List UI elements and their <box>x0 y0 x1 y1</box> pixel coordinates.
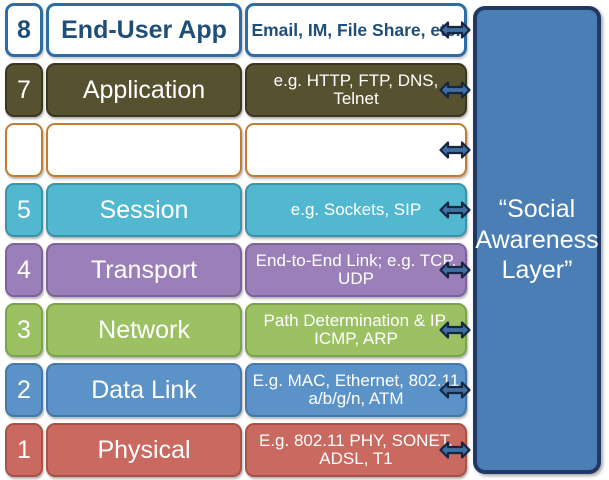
social-awareness-label: “Social Awareness Layer” <box>475 194 598 286</box>
osi-social-awareness-diagram: 8End-User AppEmail, IM, File Share, etc.… <box>0 0 609 480</box>
layer-name-1: Physical <box>46 423 242 477</box>
layer-stack: 8End-User AppEmail, IM, File Share, etc.… <box>0 0 472 480</box>
layer-row-1: 1PhysicalE.g. 802.11 PHY, SONET, ADSL, T… <box>0 420 472 480</box>
layer-description-6: Data Representation & Encryption <box>245 123 467 177</box>
layer-row-8: 8End-User AppEmail, IM, File Share, etc. <box>0 0 472 60</box>
layer-row-5: 5Sessione.g. Sockets, SIP <box>0 180 472 240</box>
layer-row-3: 3NetworkPath Determination & IP, ICMP, A… <box>0 300 472 360</box>
layer-name-2: Data Link <box>46 363 242 417</box>
double-arrow-icon-1 <box>438 420 472 480</box>
double-arrow-icon-5 <box>438 180 472 240</box>
double-arrow-icon-6 <box>438 120 472 180</box>
layer-description-2: E.g. MAC, Ethernet, 802.11 a/b/g/n, ATM <box>245 363 467 417</box>
double-arrow-icon-8 <box>438 0 472 60</box>
layer-row-2: 2Data LinkE.g. MAC, Ethernet, 802.11 a/b… <box>0 360 472 420</box>
layer-number-4: 4 <box>5 243 43 297</box>
layer-number-1: 1 <box>5 423 43 477</box>
layer-description-4: End-to-End Link; e.g. TCP, UDP <box>245 243 467 297</box>
layer-name-7: Application <box>46 63 242 117</box>
layer-row-4: 4TransportEnd-to-End Link; e.g. TCP, UDP <box>0 240 472 300</box>
layer-name-6: Presentation <box>46 123 242 177</box>
layer-name-8: End-User App <box>46 3 242 57</box>
layer-row-6: 6PresentationData Representation & Encry… <box>0 120 472 180</box>
double-arrow-icon-4 <box>438 240 472 300</box>
social-awareness-panel: “Social Awareness Layer” <box>473 6 601 474</box>
layer-number-7: 7 <box>5 63 43 117</box>
layer-name-4: Transport <box>46 243 242 297</box>
layer-number-5: 5 <box>5 183 43 237</box>
layer-description-7: e.g. HTTP, FTP, DNS, Telnet <box>245 63 467 117</box>
layer-name-3: Network <box>46 303 242 357</box>
layer-number-6: 6 <box>5 123 43 177</box>
layer-description-8: Email, IM, File Share, etc. <box>245 3 467 57</box>
layer-description-1: E.g. 802.11 PHY, SONET, ADSL, T1 <box>245 423 467 477</box>
layer-number-8: 8 <box>5 3 43 57</box>
layer-number-2: 2 <box>5 363 43 417</box>
layer-name-5: Session <box>46 183 242 237</box>
layer-description-3: Path Determination & IP, ICMP, ARP <box>245 303 467 357</box>
layer-row-7: 7Applicatione.g. HTTP, FTP, DNS, Telnet <box>0 60 472 120</box>
double-arrow-icon-7 <box>438 60 472 120</box>
layer-number-3: 3 <box>5 303 43 357</box>
double-arrow-icon-2 <box>438 360 472 420</box>
layer-description-5: e.g. Sockets, SIP <box>245 183 467 237</box>
double-arrow-icon-3 <box>438 300 472 360</box>
